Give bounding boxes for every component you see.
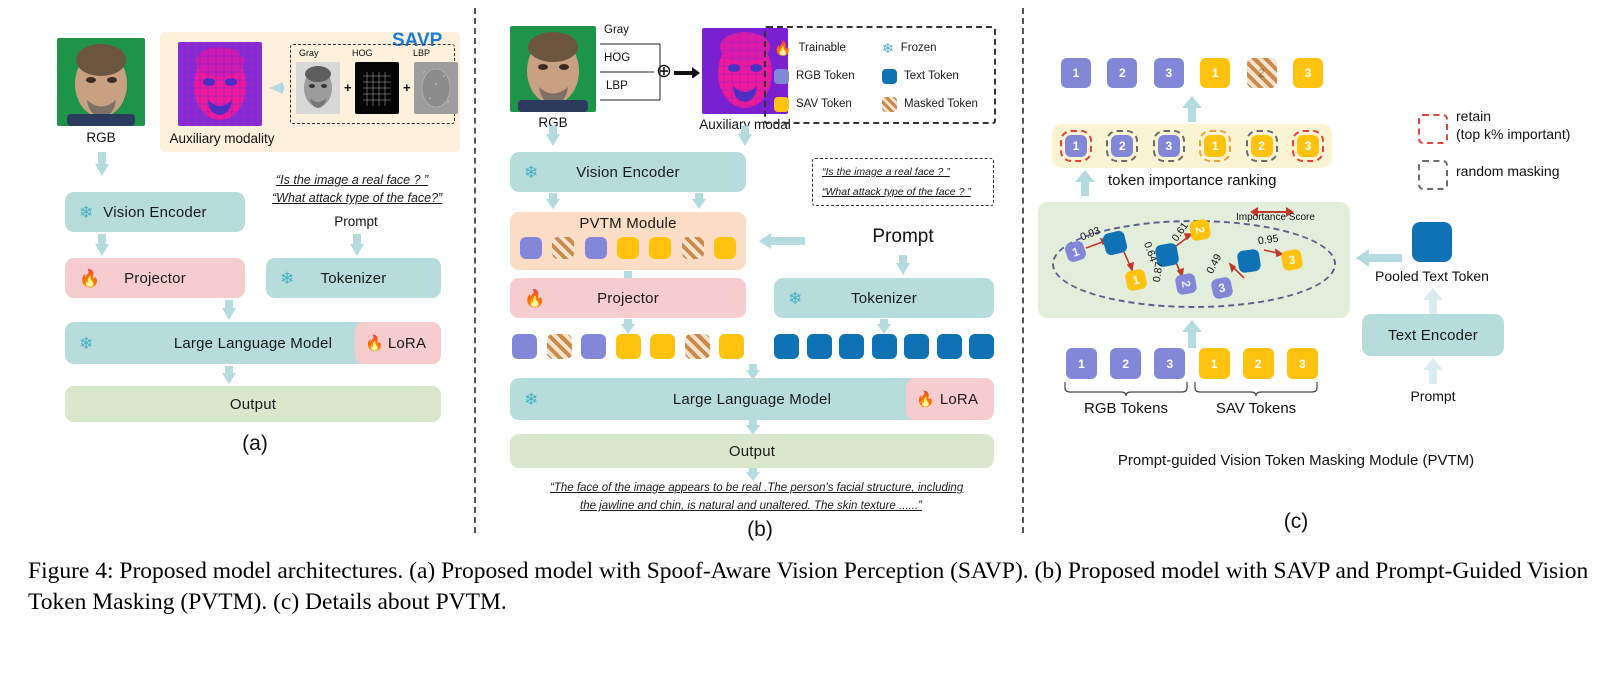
token-text xyxy=(774,334,799,359)
token-rgb: 1 xyxy=(1066,348,1097,379)
token-importance-ranking-label: token importance ranking xyxy=(1108,172,1276,189)
sum-symbol: ⊕ xyxy=(656,60,672,83)
prompt-label-a: Prompt xyxy=(334,214,378,229)
sav-tokens-group-label: SAV Tokens xyxy=(1216,400,1296,417)
panel-b: RGB Gray HOG LBP ⊕ xyxy=(478,0,1022,545)
pvtm-output-token-row: 1 2 3 1 2 3 xyxy=(1061,58,1323,88)
panel-a-label: (a) xyxy=(242,432,268,456)
encoder-to-projector-arrow xyxy=(93,234,111,258)
token-masked xyxy=(552,237,574,259)
token-rgb: 2 xyxy=(1107,58,1137,88)
figure-caption: Figure 4: Proposed model architectures. … xyxy=(28,556,1592,618)
gray-feature-label-b: Gray xyxy=(604,24,629,36)
retain-label-line2: (top k% important) xyxy=(1456,126,1570,142)
plus-sign-1: + xyxy=(344,80,352,95)
rgb-token-swatch-icon xyxy=(774,69,789,84)
token-rgb xyxy=(520,237,542,259)
text-encoder-label: Text Encoder xyxy=(1388,327,1478,344)
hog-feature-image xyxy=(355,62,399,114)
prompt-label-c: Prompt xyxy=(1410,388,1455,404)
token-masked xyxy=(547,334,572,359)
output-to-text-arrow xyxy=(744,468,762,482)
pvtm-token-row xyxy=(520,237,736,259)
legend-item-sav-token: SAV Token xyxy=(774,97,882,112)
legend-label: Trainable xyxy=(798,42,846,54)
prompt-to-text-encoder-arrow xyxy=(1422,358,1444,384)
token-rgb-random: 2 xyxy=(1111,135,1133,157)
token-masked: 2 xyxy=(1247,58,1277,88)
pvtm-module-label: PVTM Module xyxy=(510,215,746,232)
sav-token-swatch-icon xyxy=(774,97,789,112)
token-text xyxy=(969,334,994,359)
prompt-to-tokenizer-arrow xyxy=(348,234,366,258)
prompt-line-2-b: “What attack type of the face ? ” xyxy=(822,186,971,198)
token-sav xyxy=(719,334,744,359)
block-lora-b: 🔥 LoRA xyxy=(906,378,994,420)
block-output-b: Output xyxy=(510,434,994,468)
projector-down-arrow xyxy=(619,319,637,335)
gray-feature-image xyxy=(296,62,340,114)
tokens-to-scores-arrow xyxy=(1181,320,1203,348)
legend-label: SAV Token xyxy=(796,98,852,110)
token-sav xyxy=(649,237,671,259)
panel-divider-1 xyxy=(474,8,476,533)
similarity-pair-group: 1 1 0.93 0.64 2 2 0.61 0.87 3 3 0.49 0.9… xyxy=(1052,220,1336,308)
prompt-line-2-a: “What attack type of the face?” xyxy=(272,191,442,205)
output-label: Output xyxy=(230,396,276,413)
token-sav: 3 xyxy=(1293,58,1323,88)
text-token-swatch-icon xyxy=(882,69,897,84)
token-text xyxy=(807,334,832,359)
token-text xyxy=(872,334,897,359)
token-sav xyxy=(714,237,736,259)
legend-item-text-token: Text Token xyxy=(882,69,990,84)
block-vision-encoder-a: ❄ Vision Encoder xyxy=(65,192,245,232)
prompt-to-pvtm-arrow xyxy=(759,232,805,250)
output-label-b: Output xyxy=(729,443,775,460)
rgb-to-encoder-arrow xyxy=(93,152,111,178)
legend-label: Text Token xyxy=(904,70,959,82)
block-text-encoder: Text Encoder xyxy=(1362,314,1504,356)
token-rgb xyxy=(581,334,606,359)
prompt-to-tokenizer-arrow-b xyxy=(894,255,912,277)
rgb-tokens-group-label: RGB Tokens xyxy=(1084,400,1168,417)
token-rgb-random: 3 xyxy=(1158,135,1180,157)
projector-label: Projector xyxy=(124,270,186,287)
features-to-aux-arrow xyxy=(264,80,284,96)
token-sav-2: 2 xyxy=(1188,218,1211,241)
token-sav: 1 xyxy=(1199,348,1230,379)
ranking-to-output-arrow xyxy=(1181,96,1203,122)
lbp-feature-label: LBP xyxy=(413,48,430,58)
token-masked xyxy=(685,334,710,359)
llm-label: Large Language Model xyxy=(174,335,332,352)
block-projector-a: 🔥 Projector xyxy=(65,258,245,298)
snowflake-icon: ❄ xyxy=(788,290,802,307)
to-llm-arrow-a xyxy=(220,300,238,322)
flame-icon: 🔥 xyxy=(916,392,935,407)
legend-label: RGB Token xyxy=(796,70,855,82)
token-sav xyxy=(616,334,641,359)
encoder-to-pooled-arrow xyxy=(1422,288,1444,314)
projector-label-b: Projector xyxy=(597,290,659,307)
projected-token-row xyxy=(512,334,744,359)
auxiliary-modality-label: Auxiliary modality xyxy=(169,131,274,146)
panel-c-label: (c) xyxy=(1284,510,1309,534)
retain-label-line1: retain xyxy=(1456,108,1491,124)
token-rgb: 2 xyxy=(1110,348,1141,379)
prompt-line-1-b: “Is the image a real face ? ” xyxy=(822,166,950,178)
rgb-label: RGB xyxy=(86,130,115,145)
pooled-text-token-label: Pooled Text Token xyxy=(1375,268,1489,284)
token-masked xyxy=(682,237,704,259)
panel-a: SAVP RGB xyxy=(0,0,474,545)
prompt-label-b: Prompt xyxy=(872,226,933,248)
snowflake-icon: ❄ xyxy=(524,391,538,408)
panel-divider-2 xyxy=(1022,8,1024,533)
encoder-to-pvtm-arrow-2 xyxy=(690,193,708,211)
vision-encoder-label: Vision Encoder xyxy=(103,204,206,221)
prompt-line-1-a: “Is the image a real face ? ” xyxy=(276,173,428,187)
tokenizer-label-b: Tokenizer xyxy=(851,290,917,307)
encoder-to-pvtm-arrow-1 xyxy=(544,193,562,211)
legend-item-rgb-token: RGB Token xyxy=(774,69,882,84)
block-output-a: Output xyxy=(65,386,441,422)
random-outline-icon xyxy=(1418,160,1448,190)
lbp-feature-label-b: LBP xyxy=(606,80,628,92)
token-rgb: 1 xyxy=(1061,58,1091,88)
panel-c: 1 2 3 1 2 3 1 2 3 1 2 3 token importance… xyxy=(1026,0,1620,545)
tokenizer-down-arrow xyxy=(875,319,893,335)
token-text xyxy=(839,334,864,359)
token-sav-random: 2 xyxy=(1251,135,1273,157)
llm-label-b: Large Language Model xyxy=(673,391,831,408)
flame-icon: 🔥 xyxy=(524,290,545,307)
lbp-feature-image xyxy=(414,62,458,114)
rgb-face-photo xyxy=(57,38,145,126)
hog-feature-label-b: HOG xyxy=(604,52,630,64)
token-rgb-retain: 1 xyxy=(1065,135,1087,157)
aux-to-encoder-arrow-b xyxy=(736,126,754,148)
figure-canvas: SAVP RGB xyxy=(0,0,1620,545)
flame-icon: 🔥 xyxy=(79,270,100,287)
token-rgb xyxy=(585,237,607,259)
snowflake-icon: ❄ xyxy=(280,270,294,287)
token-sav xyxy=(617,237,639,259)
legend-label: Frozen xyxy=(901,42,937,54)
gray-feature-label: Gray xyxy=(299,48,319,58)
block-vision-encoder-b: ❄ Vision Encoder xyxy=(510,152,746,192)
tokenizer-label: Tokenizer xyxy=(321,270,387,287)
legend-item-trainable: 🔥 Trainable xyxy=(774,40,882,57)
token-rgb xyxy=(512,334,537,359)
plus-sign-2: + xyxy=(403,80,411,95)
token-sav: 2 xyxy=(1243,348,1274,379)
legend-label: Masked Token xyxy=(904,98,978,110)
rgb-tokens-brace xyxy=(1064,382,1188,401)
token-rgb-2: 2 xyxy=(1174,272,1197,295)
llm-to-output-arrow-a xyxy=(220,366,238,386)
scores-to-ranking-arrow xyxy=(1074,170,1096,196)
auxiliary-modality-image xyxy=(178,42,262,126)
token-sav: 1 xyxy=(1200,58,1230,88)
block-tokenizer-a: ❄ Tokenizer xyxy=(266,258,441,298)
vision-encoder-label-b: Vision Encoder xyxy=(576,164,679,181)
output-text-line-2: the jawline and chin, is natural and una… xyxy=(580,500,922,512)
token-sav-3: 3 xyxy=(1280,248,1303,271)
legend-item-frozen: ❄ Frozen xyxy=(882,40,990,57)
legend-grid: 🔥 Trainable ❄ Frozen RGB Token Text Toke… xyxy=(774,34,990,118)
snowflake-icon: ❄ xyxy=(882,40,894,57)
token-text xyxy=(904,334,929,359)
pvtm-title: Prompt-guided Vision Token Masking Modul… xyxy=(1118,452,1474,469)
token-sav xyxy=(650,334,675,359)
retain-outline-icon xyxy=(1418,114,1448,144)
flame-icon: 🔥 xyxy=(365,336,384,351)
pooled-token-to-scores-arrow xyxy=(1356,248,1402,268)
sum-to-aux-arrow xyxy=(674,66,700,78)
token-text-pooled xyxy=(1237,249,1262,274)
output-text-line-1: “The face of the image appears to be rea… xyxy=(550,482,963,494)
block-tokenizer-b: ❄ Tokenizer xyxy=(774,278,994,318)
rgb-face-photo-b xyxy=(510,26,596,112)
input-token-row: 1 2 3 1 2 3 xyxy=(1066,348,1318,379)
pooled-text-token-square xyxy=(1412,222,1452,262)
legend-item-masked-token: Masked Token xyxy=(882,97,990,112)
token-rgb: 3 xyxy=(1154,58,1184,88)
rgb-to-encoder-arrow-b xyxy=(544,126,562,148)
sav-tokens-brace xyxy=(1194,382,1318,401)
token-rgb: 3 xyxy=(1154,348,1185,379)
random-masking-label: random masking xyxy=(1456,163,1560,179)
snowflake-icon: ❄ xyxy=(79,204,93,221)
block-projector-b: 🔥 Projector xyxy=(510,278,746,318)
hog-feature-label: HOG xyxy=(352,48,373,58)
token-sav: 3 xyxy=(1287,348,1318,379)
token-sav-retain: 3 xyxy=(1297,135,1319,157)
masked-token-swatch-icon xyxy=(882,97,897,112)
token-sav-retain: 1 xyxy=(1204,135,1226,157)
flame-icon: 🔥 xyxy=(774,40,791,57)
panel-b-label: (b) xyxy=(747,518,773,542)
ranked-token-row: 1 2 3 1 2 3 xyxy=(1060,130,1324,162)
block-lora-a: 🔥 LoRA xyxy=(355,322,441,364)
token-text xyxy=(937,334,962,359)
snowflake-icon: ❄ xyxy=(79,335,93,352)
snowflake-icon: ❄ xyxy=(524,164,538,181)
text-token-row xyxy=(774,334,994,359)
